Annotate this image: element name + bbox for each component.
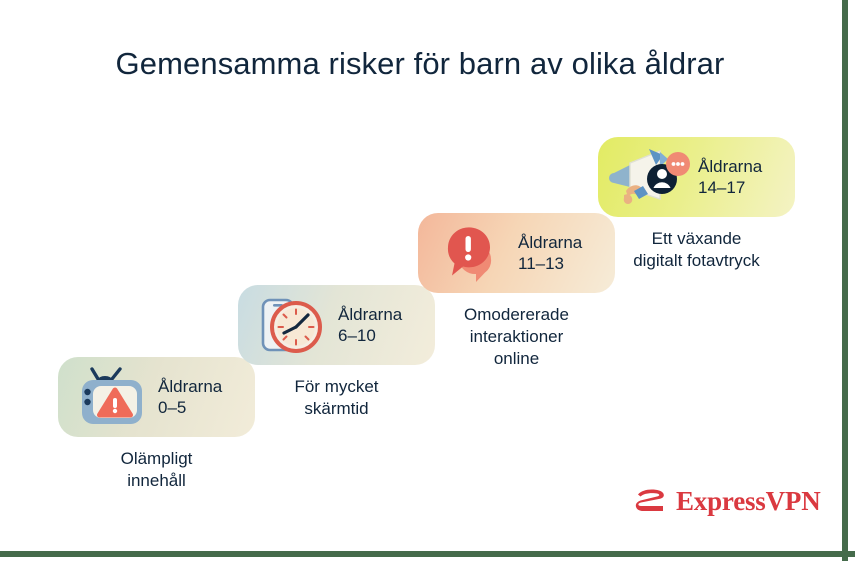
expressvpn-mark-icon	[632, 487, 668, 517]
megaphone-profile-icon	[608, 143, 694, 211]
step-age-label: Åldrarna 14–17	[698, 156, 762, 198]
right-accent-bar	[842, 0, 848, 561]
speech-bubble-alert-icon	[428, 219, 514, 287]
bottom-accent-bar	[0, 551, 855, 557]
step-card: Åldrarna 14–17	[598, 137, 795, 217]
step-card: Åldrarna 0–5	[58, 357, 255, 437]
tv-warning-icon	[68, 363, 154, 431]
step-caption: Omodererade interaktioner online	[409, 304, 624, 370]
step-item-ages-14-17: Åldrarna 14–17 Ett växande digitalt fota…	[598, 137, 804, 272]
step-caption: Olämpligt innehåll	[49, 448, 264, 492]
page-title: Gemensamma risker för barn av olika åldr…	[0, 46, 840, 82]
step-card: Åldrarna 11–13	[418, 213, 615, 293]
step-age-label: Åldrarna 0–5	[158, 376, 222, 418]
step-age-label: Åldrarna 11–13	[518, 232, 582, 274]
expressvpn-wordmark: ExpressVPN	[676, 486, 821, 517]
expressvpn-logo: ExpressVPN	[632, 486, 821, 517]
step-caption: För mycket skärmtid	[229, 376, 444, 420]
step-card: Åldrarna 6–10	[238, 285, 435, 365]
phone-clock-icon	[248, 291, 334, 359]
step-caption: Ett växande digitalt fotavtryck	[589, 228, 804, 272]
step-age-label: Åldrarna 6–10	[338, 304, 402, 346]
